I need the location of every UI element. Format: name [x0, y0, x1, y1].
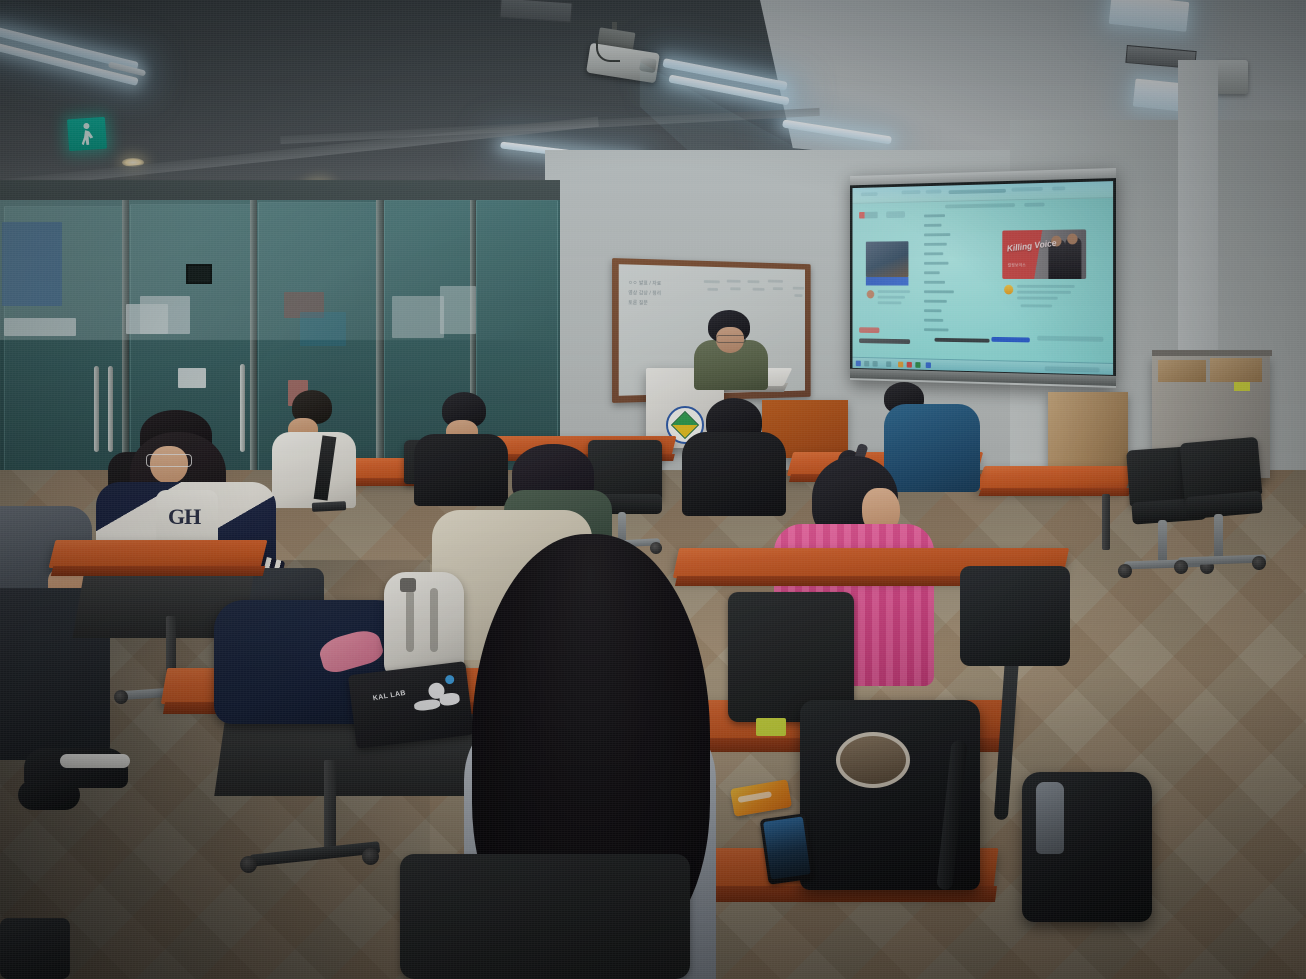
wall-mounted-box: [186, 264, 212, 284]
list-item[interactable]: [924, 271, 940, 274]
varsity-shirt-graphic: GH: [168, 504, 200, 530]
site-logo: [859, 212, 878, 219]
projected-desktop: Killing Voice 킬링보이스: [852, 181, 1113, 375]
desk-edge-front-left: [51, 566, 265, 576]
site-logo-bottom: [859, 327, 879, 333]
taskbar-app-icon-4[interactable]: [926, 362, 931, 368]
list-item[interactable]: [924, 233, 950, 236]
stacked-chair-column-1: [1158, 520, 1167, 564]
tote-bag-opening: [836, 732, 910, 788]
list-item[interactable]: [924, 319, 943, 322]
wall-speaker-right: [1216, 60, 1248, 94]
list-item[interactable]: [924, 290, 954, 293]
student-left-edge-shoe-2: [18, 780, 80, 810]
list-item[interactable]: [924, 262, 949, 265]
exit-sign-icon: [67, 117, 107, 152]
list-item[interactable]: [924, 243, 947, 246]
taskbar-explorer-icon[interactable]: [886, 361, 891, 367]
shoe-sole-1: [60, 754, 130, 768]
chair-back-bottom[interactable]: [400, 854, 690, 979]
projector-lens-icon: [639, 57, 657, 73]
list-item[interactable]: [924, 214, 945, 217]
taskbar-app-icon-2[interactable]: [907, 362, 912, 368]
list-item[interactable]: [924, 252, 943, 255]
desk-caster: [240, 856, 257, 873]
laptop-graphic-text: KAL LAB: [372, 690, 406, 703]
student-dark-jacket-torso: [414, 434, 508, 506]
whiteboard-note-3: 토론 질문: [628, 300, 648, 308]
video-thumbnail-killing-voice[interactable]: Killing Voice 킬링보이스: [1002, 229, 1086, 279]
laptop[interactable]: KAL LAB: [348, 661, 474, 749]
projection-screen: Killing Voice 킬링보이스: [850, 168, 1116, 388]
smartphone[interactable]: [760, 813, 815, 885]
desk-leg: [1102, 494, 1110, 550]
running-person-icon: [79, 123, 95, 146]
taskbar-start-icon[interactable]: [856, 361, 861, 367]
presenter-glasses-icon: [716, 335, 746, 343]
desk-front-left: [49, 540, 268, 568]
chair-caster: [1118, 564, 1132, 578]
shelf-box-1: [1158, 360, 1206, 382]
browser-chrome: [852, 181, 1113, 204]
killing-voice-subtitle: 킬링보이스: [1008, 262, 1026, 268]
whiteboard-note-1: ㅇㅇ 발표 / 자료: [628, 280, 661, 288]
desk-row4-right: [976, 466, 1135, 490]
phone-screen[interactable]: [763, 817, 811, 880]
chair-back-right-foreground[interactable]: [960, 566, 1070, 666]
poster-small-sign: [178, 368, 206, 388]
screen-border: Killing Voice 킬링보이스: [850, 178, 1116, 378]
channel-avatar[interactable]: [867, 290, 875, 298]
chair-caster: [650, 542, 662, 554]
student-blue-sweater-torso: [884, 404, 980, 492]
thumbnail-head-2: [1067, 233, 1077, 244]
channel-avatar-right[interactable]: [1004, 285, 1013, 295]
door-handle-2[interactable]: [108, 366, 113, 452]
stacked-chair-column-2: [1214, 514, 1223, 560]
chair-tag-label: [756, 718, 786, 736]
taskbar-search-icon[interactable]: [864, 361, 869, 367]
desk-leg: [324, 760, 336, 858]
student-dark-center-torso: [682, 432, 786, 516]
phone-far-desk[interactable]: [312, 501, 346, 512]
desk-caster: [362, 848, 379, 865]
door-handle-3[interactable]: [240, 364, 245, 452]
shelf-top-edge: [1152, 350, 1272, 356]
backpack-logo: [400, 578, 416, 592]
taskbar-app-icon-3[interactable]: [915, 362, 920, 368]
water-bottle: [1036, 782, 1064, 854]
list-item[interactable]: [924, 309, 941, 312]
classroom-photo: ㅇㅇ 발표 / 자료 영상 감상 / 정리 토론 질문: [0, 0, 1306, 979]
whiteboard-note-2: 영상 감상 / 정리: [628, 290, 661, 298]
list-item[interactable]: [924, 281, 945, 284]
taskbar-tray[interactable]: [1045, 366, 1100, 372]
list-item[interactable]: [924, 224, 941, 227]
video-thumbnail-left[interactable]: [866, 241, 909, 277]
taskbar-taskview-icon[interactable]: [873, 361, 878, 367]
list-item[interactable]: [924, 300, 947, 303]
laptop-sticker: [445, 675, 455, 685]
video-title-left[interactable]: [866, 277, 909, 285]
shelf-box-2: [1210, 358, 1262, 382]
taskbar-app-icon-1[interactable]: [898, 362, 903, 368]
student-varsity-glasses-icon: [146, 454, 192, 467]
desk-caster: [114, 690, 128, 704]
shelf-label-tag: [1234, 382, 1250, 391]
chair-caster: [1174, 560, 1188, 574]
chair-corner-bottom-left[interactable]: [0, 918, 70, 979]
door-handle-1[interactable]: [94, 366, 99, 452]
chair-caster: [1252, 556, 1266, 570]
glass-reflection: [0, 200, 560, 340]
list-item[interactable]: [924, 328, 949, 331]
